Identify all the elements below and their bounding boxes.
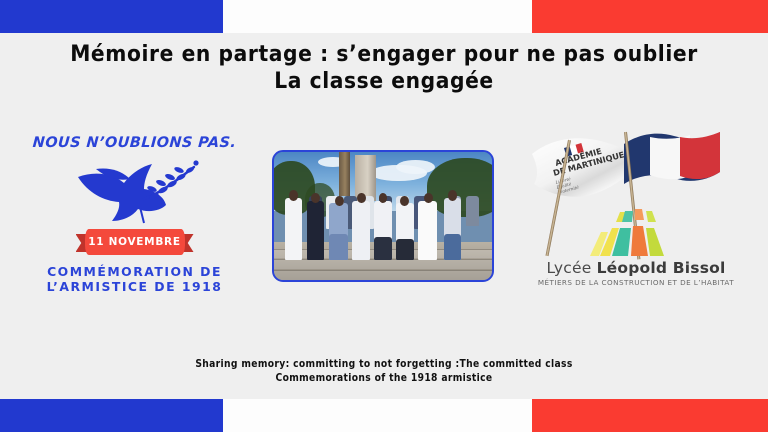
dove-with-olive-branch-icon [22, 155, 247, 227]
top-flag-white-band [223, 0, 532, 33]
date-ribbon-banner: 11 NOVEMBRE [76, 229, 194, 255]
group-photo [272, 150, 494, 282]
page-title-line-2: La classe engagée [0, 68, 768, 95]
school-name-light: Lycée [546, 259, 596, 277]
bottom-caption-line-2: Commemorations of the 1918 armistice [0, 372, 768, 386]
slide-root: Mémoire en partage : s’engager pour ne p… [0, 0, 768, 432]
top-flag-blue-band [0, 0, 223, 33]
bottom-caption: Sharing memory: committing to not forget… [0, 358, 768, 386]
lycee-chevron-logo-icon [586, 198, 686, 260]
page-title-line-1: Mémoire en partage : s’engager pour ne p… [0, 41, 768, 68]
page-title: Mémoire en partage : s’engager pour ne p… [0, 41, 768, 95]
school-logo: ACADÉMIE DE MARTINIQUE Liberté Égalité F… [520, 126, 752, 306]
commemoration-text: COMMÉMORATION DE L’ARMISTICE DE 1918 [22, 264, 247, 294]
bottom-flag-blue-band [0, 399, 223, 432]
top-flag-stripe [0, 0, 768, 33]
ribbon-label: 11 NOVEMBRE [85, 229, 185, 255]
group-photo-image [274, 152, 492, 280]
school-tagline: MÉTIERS DE LA CONSTRUCTION ET DE L’HABIT… [520, 278, 752, 287]
school-name-bold-1: Léopold [597, 259, 673, 277]
school-name-bold-2: Bissol [673, 259, 726, 277]
school-name: Lycée Léopold Bissol [520, 259, 752, 277]
bottom-flag-red-band [532, 399, 768, 432]
content-row: NOUS N’OUBLIONS PAS. [0, 126, 768, 316]
photo-palm-trunk [339, 152, 350, 196]
bottom-flag-stripe [0, 399, 768, 432]
top-flag-red-band [532, 0, 768, 33]
commemoration-slogan: NOUS N’OUBLIONS PAS. [21, 135, 247, 151]
commemoration-logo: NOUS N’OUBLIONS PAS. [22, 126, 247, 306]
bottom-caption-line-1: Sharing memory: committing to not forget… [0, 358, 768, 372]
commemoration-line-1: COMMÉMORATION DE [22, 264, 247, 279]
bottom-flag-white-band [223, 399, 532, 432]
commemoration-line-2: L’ARMISTICE DE 1918 [22, 279, 247, 294]
